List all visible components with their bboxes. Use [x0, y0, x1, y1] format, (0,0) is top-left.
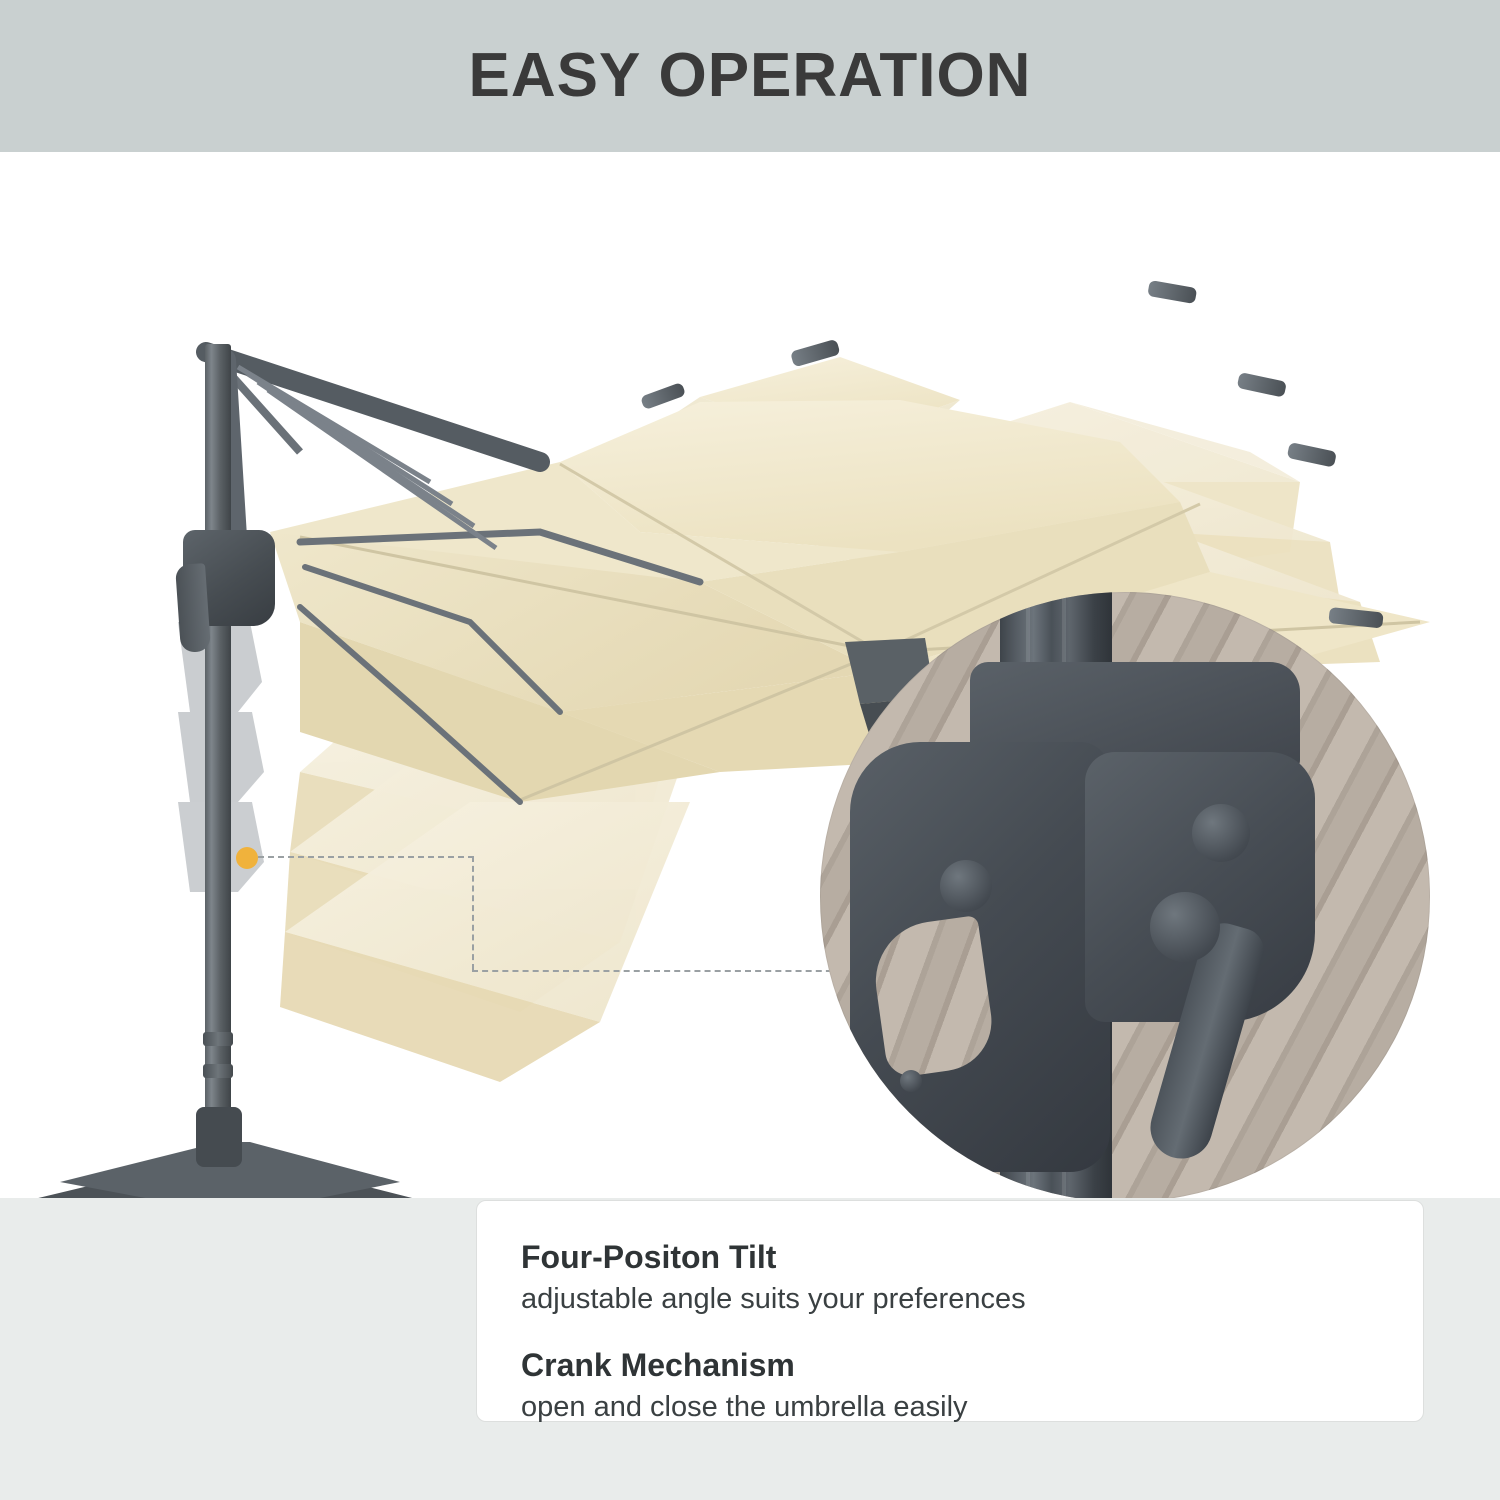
leader-line-top [258, 856, 474, 858]
feature-item-tilt: Four-Positon Tilt adjustable angle suits… [521, 1237, 1379, 1319]
leader-line-bottom [472, 970, 842, 972]
callout-dot [236, 847, 258, 869]
feature-title-crank: Crank Mechanism [521, 1345, 1379, 1385]
header-banner: EASY OPERATION [0, 0, 1500, 152]
closeup-pivot-knob [1150, 892, 1220, 962]
feature-card: Four-Positon Tilt adjustable angle suits… [476, 1200, 1424, 1422]
feature-title-tilt: Four-Positon Tilt [521, 1237, 1379, 1277]
product-photo [0, 152, 1500, 1198]
closeup-screw [900, 1070, 922, 1092]
closeup-bolt-right [1192, 804, 1250, 862]
leader-line-vertical [472, 856, 474, 970]
page-title: EASY OPERATION [469, 45, 1032, 107]
feature-item-crank: Crank Mechanism open and close the umbre… [521, 1345, 1379, 1427]
detail-closeup-circle [820, 592, 1430, 1198]
feature-desc-crank: open and close the umbrella easily [521, 1389, 1379, 1427]
closeup-bolt-left [940, 860, 992, 912]
feature-desc-tilt: adjustable angle suits your preferences [521, 1281, 1379, 1319]
